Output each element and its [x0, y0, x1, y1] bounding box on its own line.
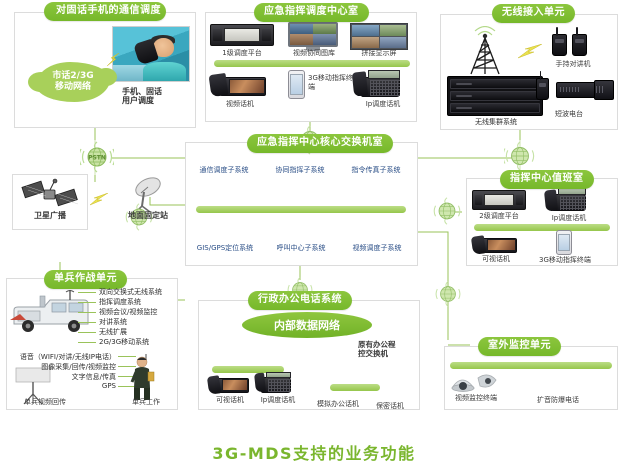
ip-desk-phone-command-center [352, 68, 404, 99]
service-item-3: 文字信息/传真 [12, 372, 116, 382]
wireless-bolt-icon-3 [88, 192, 110, 211]
label-subsystem-coop-command: 协同指挥子系统 [264, 166, 336, 175]
ip-phone-handset-3 [254, 373, 266, 393]
label-video-monitor-terminal: 视频监控终端 [442, 394, 510, 403]
photo-shirt [143, 62, 186, 81]
flat-monitor-video-library [288, 22, 338, 52]
wireless-bolt-icon [104, 52, 122, 71]
label-ip-desk-phone-office: Ip调度话机 [252, 396, 304, 405]
label-subsystem-video-dispatch: 视频调度子系统 [340, 244, 414, 253]
label-mobile-radio: 短波电台 [536, 110, 602, 119]
leader-line-3 [78, 312, 96, 313]
label-soldier-video-backhaul: 单兵视频回传 [12, 398, 78, 407]
leader-line-6 [78, 342, 96, 343]
video-phone-handset [209, 73, 229, 98]
mobile-radio-base [556, 82, 596, 98]
walkie-talkie-1 [552, 34, 567, 56]
globe-node-duty [432, 196, 462, 230]
leader-line-4 [78, 322, 96, 323]
pill-duty-room-title: 指挥中心值班室 [500, 170, 594, 189]
capability-item-6: 2G/3G移动系统 [99, 337, 149, 347]
page-title: 3G-MDS支持的业务功能 [0, 440, 628, 464]
video-phone-duty-room [472, 232, 520, 254]
label-video-phone-duty-room: 可视话机 [470, 255, 522, 264]
caption-mobile-users-line-2: 用户调度 [122, 97, 192, 106]
ip-desk-phone-duty-room [544, 186, 590, 213]
label-video-phone-office: 可视话机 [204, 396, 256, 405]
service-item-4: GPS [12, 382, 116, 390]
ip-phone-keypad-2 [560, 196, 587, 210]
video-wall-display [350, 23, 408, 50]
capability-item-2: 指挥调度系统 [99, 297, 141, 307]
man-on-phone-photo [112, 26, 190, 82]
bus-bar-duty-room [474, 224, 610, 231]
label-video-phone-command-center: 视频话机 [208, 100, 272, 109]
label-smartphone-3g-terminal-command: 3G移动指挥终端 [308, 74, 356, 92]
label-analog-office-phone: 模拟办公话机 [310, 400, 366, 409]
label-secure-phone: 保密话机 [368, 402, 412, 411]
smartphone-3g-terminal-duty [556, 230, 572, 255]
label-ip-desk-phone-command-center: Ip调度话机 [352, 100, 414, 109]
bus-bar-command-center [214, 60, 410, 67]
capability-item-4: 对讲系统 [99, 317, 127, 327]
label-subsystem-fax: 指令传真子系统 [340, 166, 412, 175]
dispatch-console-level1 [210, 24, 274, 46]
console-screen [224, 28, 260, 42]
service-item-2: 图像采集/回传/视频监控 [12, 362, 116, 372]
pill-wireless-access-title: 无线接入单元 [492, 4, 575, 23]
label-dispatch-console-level2: 2级调度平台 [470, 212, 528, 221]
leader-line-2 [78, 302, 96, 303]
globe-node-pstn: PSTN [80, 140, 114, 178]
pill-fixed-mobile-title: 对固话手机的通信调度 [44, 2, 166, 21]
cloud-label-line-1: 市话2/3G [52, 71, 93, 81]
pill-line-1: 对固话手机的通信调度 [56, 5, 154, 17]
mobile-radio-group [530, 74, 616, 106]
label-satellite-broadcast: 卫星广播 [14, 212, 86, 221]
console-screen-2 [484, 194, 514, 207]
pill-office-phone-title: 行政办公电话系统 [248, 291, 352, 310]
label-video-wall-display: 拼接显示屏 [348, 49, 410, 58]
ip-desk-phone-office [254, 370, 294, 394]
video-phone-screen [229, 79, 265, 94]
capability-item-1: 双向交换式无线系统 [99, 287, 162, 297]
capability-item-5: 无线扩展 [99, 327, 127, 337]
walkie-talkie-pair [552, 30, 592, 56]
video-phone-command-center [210, 70, 270, 98]
label-subsystem-call-center: 呼叫中心子系统 [264, 244, 338, 253]
mobile-radio-unit [594, 80, 614, 100]
bus-bar-core-switch-room [196, 206, 406, 213]
label-explosion-proof-phone: 扩音防爆电话 [524, 396, 592, 405]
ip-phone-lcd-2 [558, 188, 587, 195]
ip-phone-lcd-3 [266, 372, 291, 378]
mobile-radio-handheld [536, 78, 549, 100]
smartphone-screen-2 [558, 234, 570, 252]
smartphone-3g-terminal-command [288, 70, 305, 99]
walkie-talkie-2 [572, 34, 587, 56]
label-dispatch-console-level1: 1级调度平台 [206, 49, 278, 58]
pill-command-center-title: 应急指挥调度中心室 [254, 3, 369, 22]
caption-mobile-users: 手机、固话 用户调度 [122, 88, 192, 105]
label-subsystem-gis-gps: GIS/GPS定位系统 [188, 244, 262, 253]
internal-data-network-ellipse: 内部数据网络 [242, 312, 372, 338]
video-phone-office [208, 372, 252, 394]
ip-phone-keypad [370, 80, 400, 96]
leader-line-1 [78, 292, 96, 293]
cloud-label-line-2: 移动网络 [55, 82, 91, 92]
ip-phone-keypad-3 [268, 379, 291, 391]
bus-bar-office-right [330, 384, 380, 391]
svg-text:PSTN: PSTN [88, 155, 106, 162]
pill-core-switch-room-title: 应急指挥中心核心交换机室 [247, 134, 393, 153]
capability-item-3: 视频会议/视频监控 [99, 307, 157, 317]
ip-phone-handset-2 [544, 189, 558, 211]
wireless-trunking-rack [447, 76, 543, 116]
label-legacy-pbx-line-2: 控交换机 [358, 349, 420, 358]
network-topology-diagram: 对固话手机的通信调度 市话2/3G 移动网络 手机、固话 用户调度 应急指挥调度… [0, 0, 628, 472]
bus-bar-outdoor-monitor [450, 362, 612, 369]
label-walkie-talkie: 手持对讲机 [540, 60, 606, 69]
label-wireless-trunking-system: 无线集群系统 [448, 118, 544, 127]
label-ground-station: 地面固定站 [112, 212, 184, 221]
soldier-icon [128, 354, 160, 400]
video-phone-screen-3 [222, 379, 248, 391]
label-subsystem-comm-dispatch: 通信调度子系统 [188, 166, 260, 175]
label-legacy-pbx: 原有办公程 控交换机 [358, 340, 420, 358]
smartphone-screen [290, 74, 303, 95]
pill-outdoor-monitor-title: 室外监控单元 [478, 337, 561, 356]
dispatch-console-level2 [472, 190, 526, 210]
label-soldier-work: 单兵工作 [118, 398, 174, 407]
label-legacy-pbx-line-1: 原有办公程 [358, 340, 420, 349]
ip-phone-lcd [368, 70, 400, 78]
label-ip-desk-phone-duty-room: Ip调度话机 [542, 214, 596, 223]
monitor-panes [288, 22, 338, 47]
antenna-tower-icon [463, 26, 507, 76]
leader-line-5 [78, 332, 96, 333]
satellite-icon [20, 178, 78, 212]
video-phone-screen-2 [487, 239, 516, 251]
dome-camera-icon [450, 370, 500, 394]
command-vehicle-icon [10, 290, 94, 338]
globe-node-outdoor [434, 280, 462, 312]
label-flat-monitor-video-library: 视频协同图库 [283, 49, 345, 58]
service-item-1: 语音（WIFI/对讲/无线IP电话） [12, 352, 116, 362]
label-smartphone-3g-terminal-duty: 3G移动指挥终端 [532, 256, 598, 265]
